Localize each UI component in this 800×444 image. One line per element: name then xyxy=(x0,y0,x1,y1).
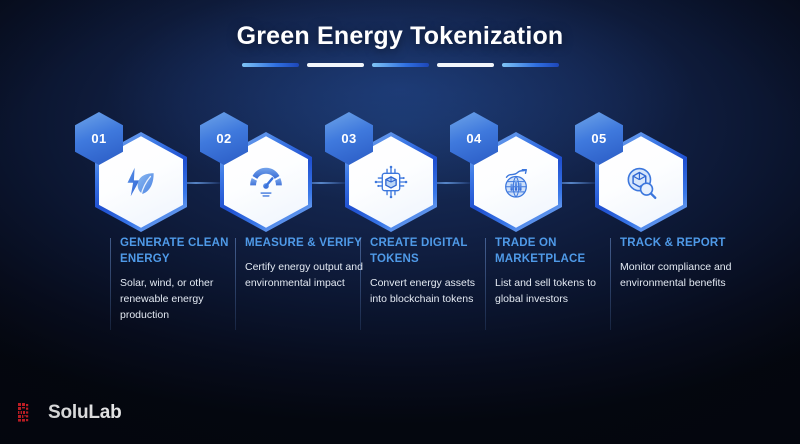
page-title: Green Energy Tokenization xyxy=(0,22,800,51)
step-number-1: 01 xyxy=(91,131,106,146)
infographic-canvas: Green Energy Tokenization xyxy=(0,0,800,444)
step-description-2: Certify energy output and environmental … xyxy=(245,259,363,292)
step-text-3: CREATE DIGITAL TOKENS Convert energy ass… xyxy=(360,236,488,307)
step-number-3: 03 xyxy=(341,131,356,146)
step-text-1: GENERATE CLEAN ENERGY Solar, wind, or ot… xyxy=(110,236,238,324)
step-title-3: CREATE DIGITAL TOKENS xyxy=(370,236,488,268)
step-hexagon-5[interactable]: 05 xyxy=(575,112,700,232)
brand-name: SoluLab xyxy=(48,402,122,424)
step-number-2: 02 xyxy=(216,131,231,146)
underline-dash-2 xyxy=(307,63,364,67)
step-hexagon-1[interactable]: 01 xyxy=(75,112,200,232)
step-hexagon-4[interactable]: 04 xyxy=(450,112,575,232)
step-title-5: TRACK & REPORT xyxy=(620,236,738,252)
step-text-2: MEASURE & VERIFY Certify energy output a… xyxy=(235,236,363,291)
underline-dash-5 xyxy=(502,63,559,67)
step-hexagon-row: 01 xyxy=(0,112,800,232)
step-description-5: Monitor compliance and environmental ben… xyxy=(620,259,738,292)
step-title-2: MEASURE & VERIFY xyxy=(245,236,363,252)
brand-logo[interactable]: SoluLab xyxy=(18,402,122,424)
step-text-5: TRACK & REPORT Monitor compliance and en… xyxy=(610,236,738,291)
step-description-3: Convert energy assets into blockchain to… xyxy=(370,275,488,308)
step-title-4: TRADE ON MARKETPLACE xyxy=(495,236,613,268)
step-number-4: 04 xyxy=(466,131,481,146)
step-description-1: Solar, wind, or other renewable energy p… xyxy=(120,275,238,324)
step-descriptions: GENERATE CLEAN ENERGY Solar, wind, or ot… xyxy=(0,236,800,336)
title-underline-dashes xyxy=(0,63,800,67)
underline-dash-1 xyxy=(242,63,299,67)
underline-dash-3 xyxy=(372,63,429,67)
underline-dash-4 xyxy=(437,63,494,67)
step-hexagon-3[interactable]: 03 xyxy=(325,112,450,232)
step-hexagon-2[interactable]: 02 xyxy=(200,112,325,232)
step-number-5: 05 xyxy=(591,131,606,146)
step-text-4: TRADE ON MARKETPLACE List and sell token… xyxy=(485,236,613,307)
step-title-1: GENERATE CLEAN ENERGY xyxy=(120,236,238,268)
step-description-4: List and sell tokens to global investors xyxy=(495,275,613,308)
solulab-qr-mark xyxy=(18,402,40,424)
header: Green Energy Tokenization xyxy=(0,22,800,67)
